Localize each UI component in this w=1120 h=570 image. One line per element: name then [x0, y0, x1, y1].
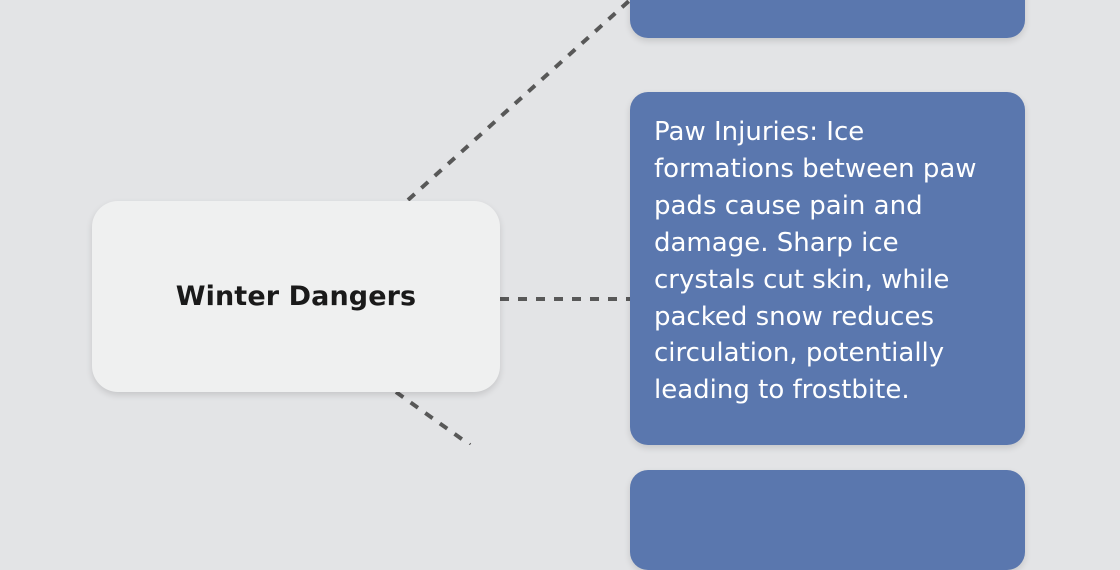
- central-node[interactable]: Winter Dangers: [92, 201, 500, 392]
- connector-to-bottom-branch: [396, 392, 470, 445]
- branch-node-top[interactable]: [630, 0, 1025, 38]
- branch-node-paw-injuries[interactable]: Paw Injuries: Ice formations between paw…: [630, 92, 1025, 445]
- central-node-label: Winter Dangers: [176, 281, 416, 312]
- mindmap-canvas: Paw Injuries: Ice formations between paw…: [0, 0, 1120, 445]
- branch-node-bottom[interactable]: [630, 470, 1025, 570]
- branch-node-paw-injuries-label: Paw Injuries: Ice formations between paw…: [654, 114, 1001, 409]
- connector-to-top-branch: [408, 0, 630, 200]
